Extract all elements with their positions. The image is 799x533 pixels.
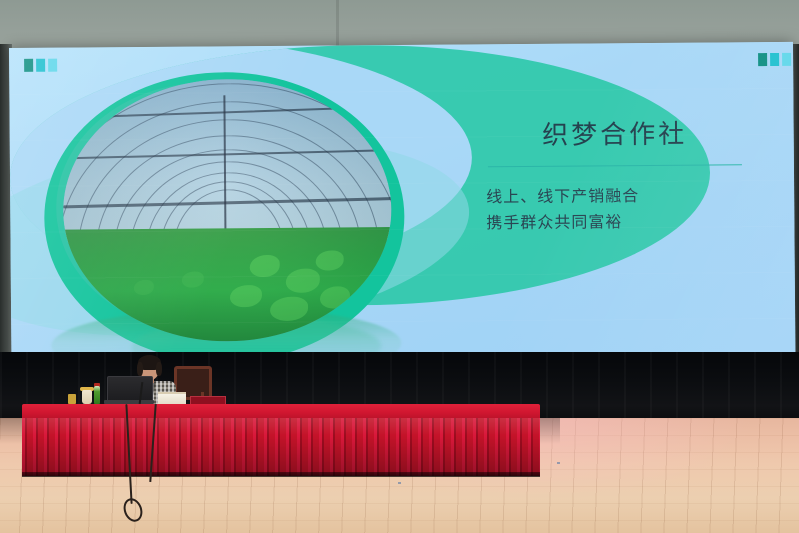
floor-speck (398, 482, 401, 484)
mug (68, 394, 76, 404)
slide-title: 织梦合作社 (480, 120, 750, 151)
mark-square-light (782, 53, 791, 66)
mark-square-dark (758, 53, 767, 66)
mark-square-mid (770, 53, 779, 66)
presenter-table (22, 404, 540, 476)
projection-screen[interactable]: 织梦合作社 线上、线下产销融合 携手群众共同富裕 (9, 42, 795, 362)
photo-overlay (62, 78, 392, 343)
speaker-hair-side (137, 362, 143, 376)
corner-marks-left (24, 59, 57, 72)
slide-subtitle: 线上、线下产销融合 携手群众共同富裕 (480, 182, 750, 236)
stage-scene: 织梦合作社 线上、线下产销融合 携手群众共同富裕 (0, 0, 799, 533)
mark-square-dark (24, 59, 33, 72)
laptop[interactable] (104, 376, 154, 404)
corner-marks-right (758, 53, 791, 66)
slide-subtitle-line-1: 线上、线下产销融合 (486, 182, 750, 210)
tea-cup (82, 390, 92, 404)
speaker-hair-side (156, 362, 162, 376)
mark-square-light (48, 59, 57, 72)
floor-speck (557, 462, 560, 464)
table-skirt-hem (22, 472, 540, 477)
slide-text-block: 织梦合作社 线上、线下产销融合 携手群众共同富裕 (480, 120, 751, 236)
table-skirt-shading (22, 418, 540, 476)
slide-subtitle-line-2: 携手群众共同富裕 (486, 208, 750, 236)
greenhouse-photo (62, 78, 392, 343)
mark-square-mid (36, 59, 45, 72)
laptop-screen (107, 376, 153, 403)
water-bottle (94, 386, 100, 404)
title-divider (488, 164, 742, 167)
